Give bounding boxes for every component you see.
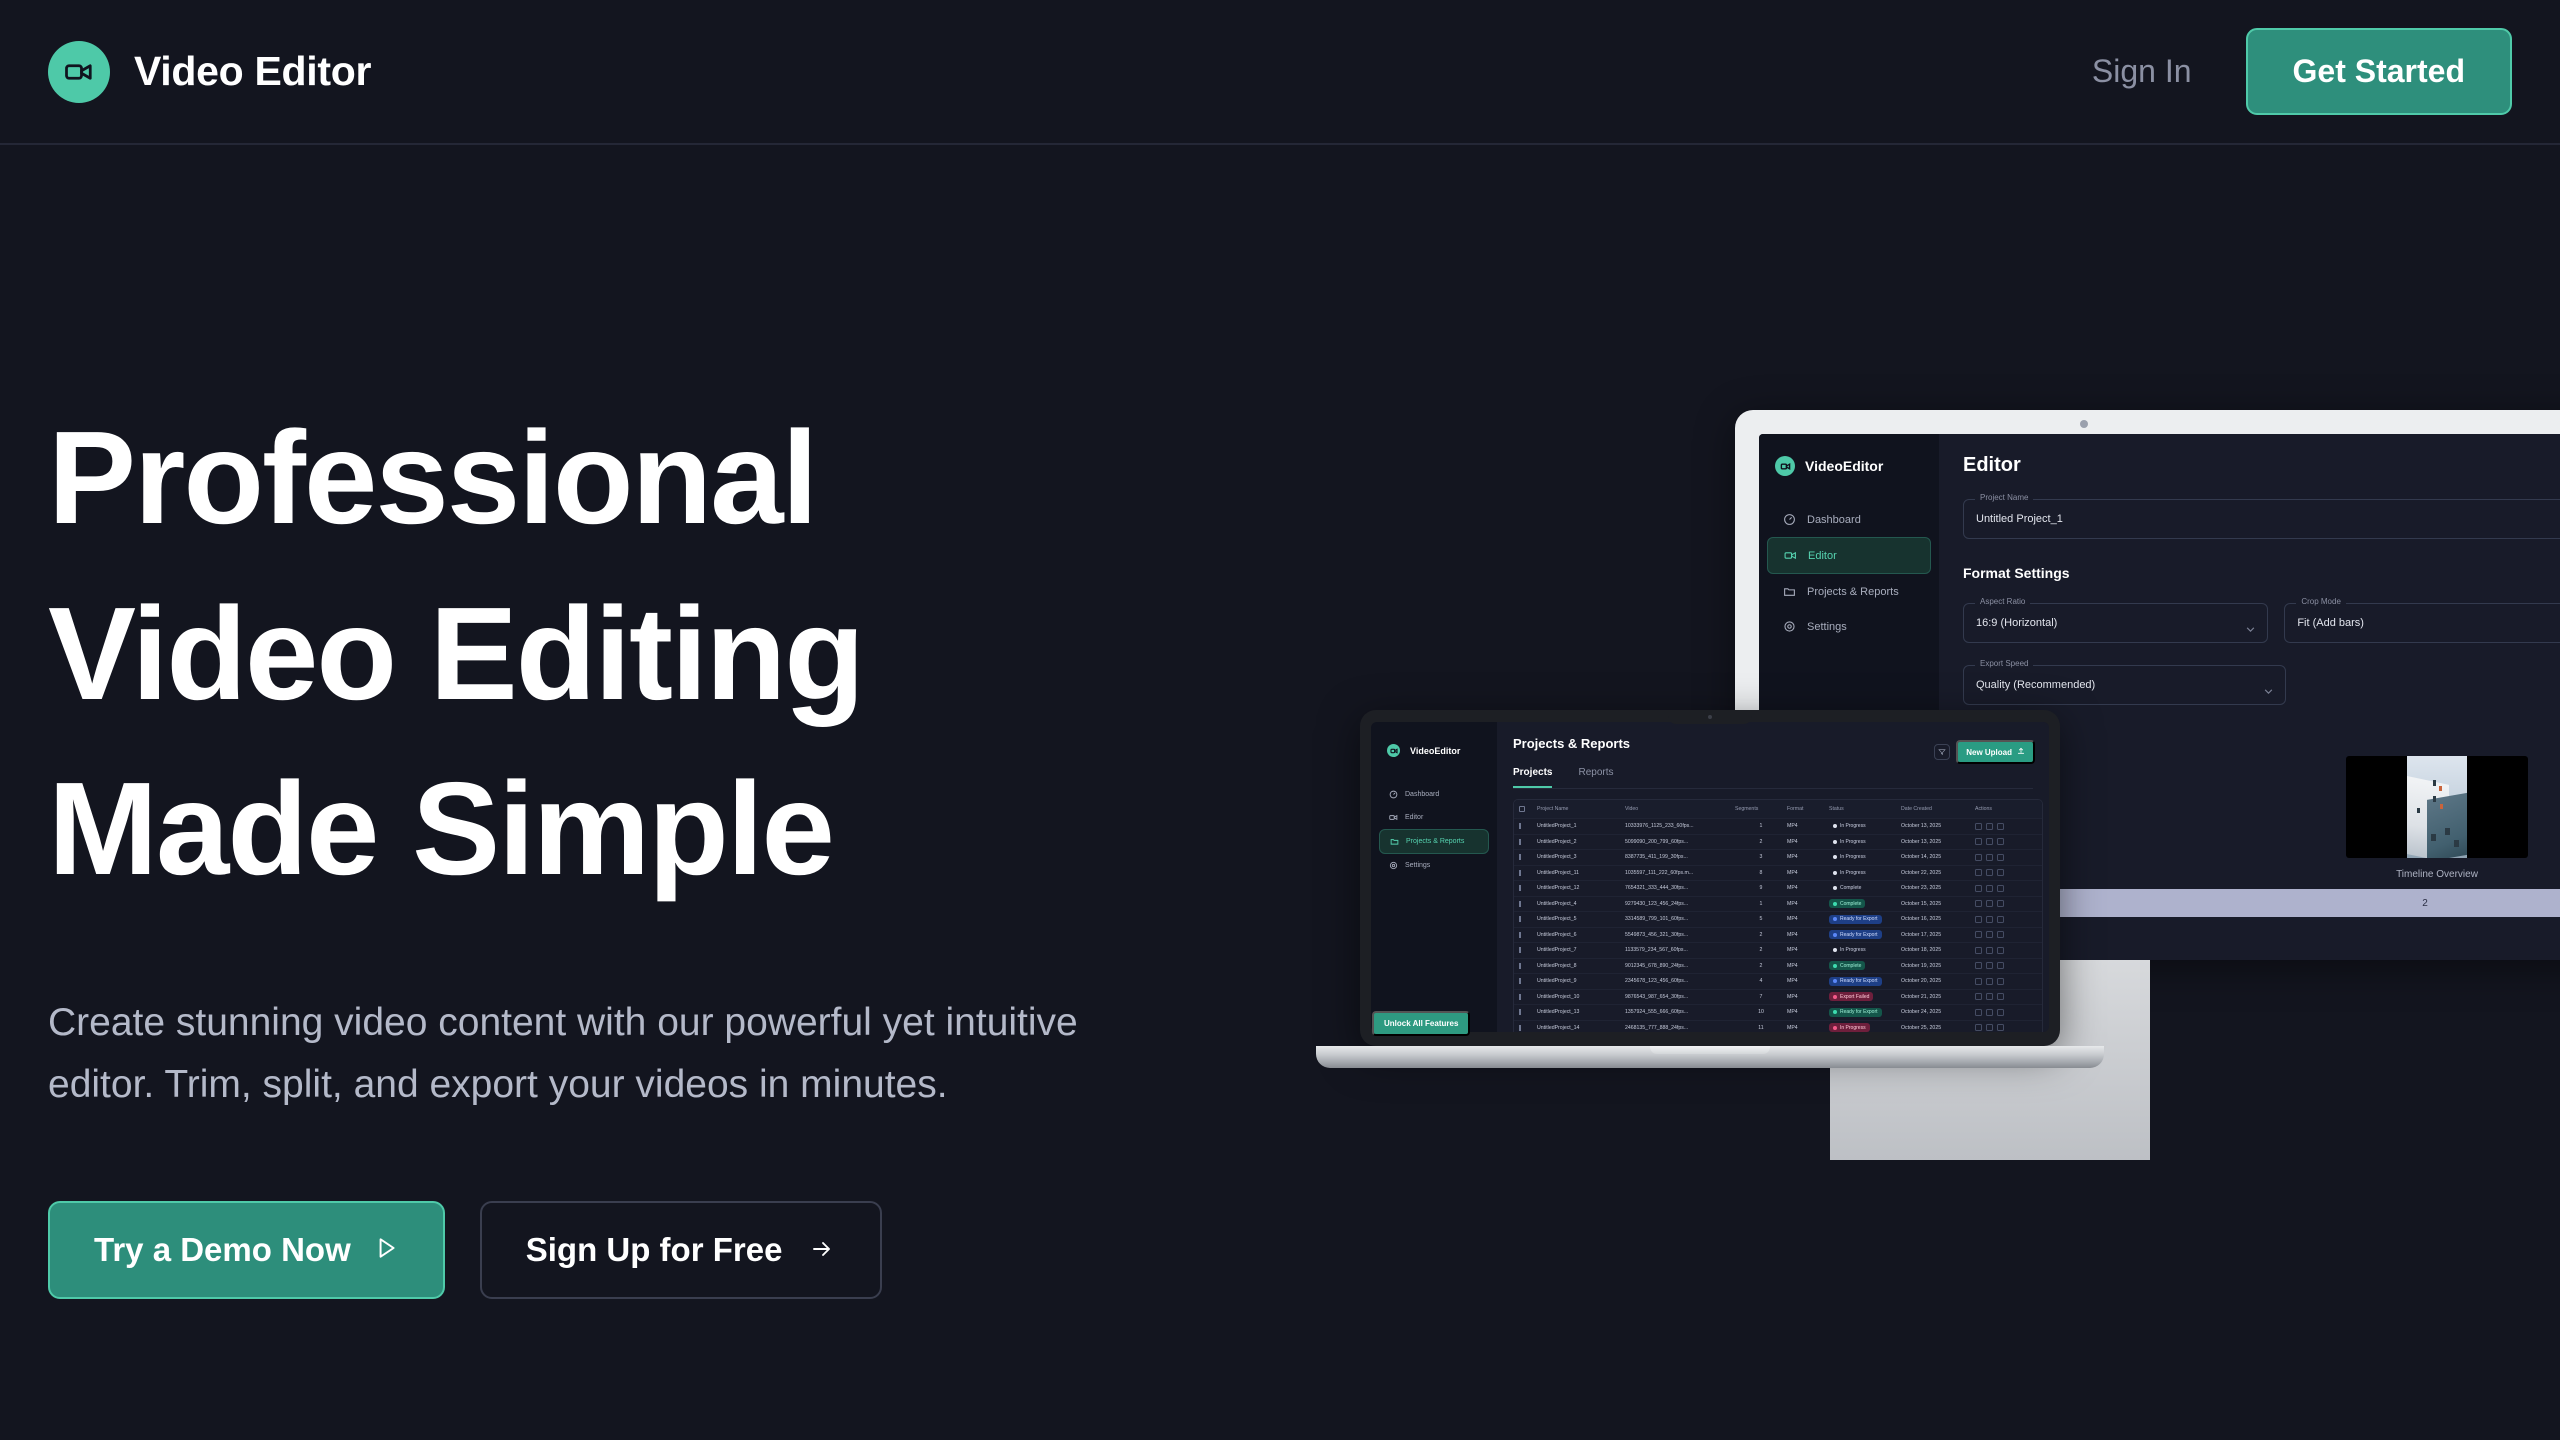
video-camera-icon <box>1387 744 1400 757</box>
video-camera-icon <box>1389 813 1398 822</box>
table-row[interactable]: UntitledProject_110333976_1125_233_60fps… <box>1514 819 2042 835</box>
gauge-icon <box>1389 790 1398 799</box>
row-checkbox[interactable] <box>1519 978 1537 984</box>
edit-icon[interactable] <box>1975 916 1982 923</box>
cell-format: MP4 <box>1787 1025 1829 1031</box>
edit-icon[interactable] <box>1975 947 1982 954</box>
hero-subtitle: Create stunning video content with our p… <box>48 992 1138 1117</box>
cell-video: 9279430_123_456_24fps... <box>1625 901 1735 907</box>
crop-mode-select[interactable]: Crop Mode Fit (Add bars) <box>2284 603 2560 643</box>
cell-format: MP4 <box>1787 916 1829 922</box>
edit-icon[interactable] <box>1975 931 1982 938</box>
cell-format: MP4 <box>1787 978 1829 984</box>
chevron-down-icon <box>2246 619 2255 624</box>
cell-date-created: October 16, 2025 <box>1901 916 1975 922</box>
cell-video: 3314589_799_101_60fps... <box>1625 916 1735 922</box>
sign-up-label: Sign Up for Free <box>526 1231 783 1269</box>
status-badge: Ready for Export <box>1829 930 1901 939</box>
cell-format: MP4 <box>1787 947 1829 953</box>
row-actions[interactable] <box>1975 823 2037 830</box>
sidebar-label: Settings <box>1405 862 1430 869</box>
cell-format: MP4 <box>1787 885 1829 891</box>
tab-reports[interactable]: Reports <box>1578 767 1613 788</box>
status-badge: Ready for Export <box>1829 1008 1901 1017</box>
row-actions[interactable] <box>1975 916 2037 923</box>
aspect-ratio-value: 16:9 (Horizontal) <box>1976 617 2057 629</box>
hero-title-line-1: Professional <box>48 390 1148 566</box>
webcam-icon <box>2080 420 2088 428</box>
hero-title-line-2: Video Editing <box>48 566 1148 742</box>
sidebar-item-settings[interactable]: Settings <box>1767 609 1931 644</box>
get-started-button[interactable]: Get Started <box>2246 28 2512 115</box>
header-actions: Sign In Get Started <box>2092 28 2512 115</box>
laptop-lid: VideoEditor Dashboard Editor Projects & … <box>1360 710 2060 1046</box>
table-row[interactable]: UntitledProject_131357924_555_666_60fps.… <box>1514 1005 2042 1021</box>
format-settings-title: Format Settings <box>1963 565 2560 581</box>
format-settings-row: Aspect Ratio 16:9 (Horizontal) Crop Mode… <box>1963 581 2560 643</box>
edit-icon[interactable] <box>1975 1024 1982 1031</box>
column-status[interactable]: Status <box>1829 806 1901 812</box>
row-checkbox[interactable] <box>1519 1025 1537 1031</box>
sidebar-label: Dashboard <box>1807 514 1861 526</box>
row-actions[interactable] <box>1975 854 2037 861</box>
cell-segments: 7 <box>1735 994 1787 1000</box>
cell-format: MP4 <box>1787 854 1829 860</box>
export-icon[interactable] <box>1986 900 1993 907</box>
laptop-mockup: VideoEditor Dashboard Editor Projects & … <box>1360 710 2060 1068</box>
cell-segments: 10 <box>1735 1009 1787 1015</box>
status-badge: In Progress <box>1829 868 1901 877</box>
column-project-name[interactable]: Project Name <box>1537 806 1625 812</box>
delete-icon[interactable] <box>1997 993 2004 1000</box>
cell-segments: 8 <box>1735 870 1787 876</box>
table-row[interactable]: UntitledProject_25099090_200_799_60fps..… <box>1514 835 2042 851</box>
site-header: Video Editor Sign In Get Started <box>0 0 2560 145</box>
cell-project-name: UntitledProject_10 <box>1537 994 1625 1000</box>
chevron-down-icon <box>2264 681 2273 686</box>
row-checkbox[interactable] <box>1519 839 1537 845</box>
export-icon[interactable] <box>1986 978 1993 985</box>
row-checkbox[interactable] <box>1519 854 1537 860</box>
cell-date-created: October 18, 2025 <box>1901 947 1975 953</box>
status-badge: In Progress <box>1829 853 1901 862</box>
status-badge: In Progress <box>1829 837 1901 846</box>
device-mockups: VideoEditor Dashboard Editor Projects & … <box>1360 390 2560 1190</box>
aspect-ratio-label: Aspect Ratio <box>1975 597 2030 606</box>
status-badge: In Progress <box>1829 1023 1901 1032</box>
delete-icon[interactable] <box>1997 1009 2004 1016</box>
cell-video: 1357924_555_666_60fps... <box>1625 1009 1735 1015</box>
sidebar-label: Editor <box>1405 814 1423 821</box>
row-checkbox[interactable] <box>1519 932 1537 938</box>
row-actions[interactable] <box>1975 838 2037 845</box>
table-row[interactable]: UntitledProject_53314589_799_101_60fps..… <box>1514 912 2042 928</box>
hero-section: Professional Video Editing Made Simple C… <box>48 390 1148 1299</box>
row-actions[interactable] <box>1975 931 2037 938</box>
try-demo-label: Try a Demo Now <box>94 1231 351 1269</box>
row-actions[interactable] <box>1975 993 2037 1000</box>
cell-date-created: October 15, 2025 <box>1901 901 1975 907</box>
delete-icon[interactable] <box>1997 962 2004 969</box>
cell-project-name: UntitledProject_14 <box>1537 1025 1625 1031</box>
row-checkbox[interactable] <box>1519 916 1537 922</box>
play-triangle-icon <box>373 1231 399 1269</box>
export-icon[interactable] <box>1986 838 1993 845</box>
edit-icon[interactable] <box>1975 838 1982 845</box>
editor-app-brand: VideoEditor <box>1759 456 1939 476</box>
row-actions[interactable] <box>1975 1024 2037 1031</box>
delete-icon[interactable] <box>1997 838 2004 845</box>
cell-format: MP4 <box>1787 839 1829 845</box>
delete-icon[interactable] <box>1997 854 2004 861</box>
export-speed-label: Export Speed <box>1975 659 2033 668</box>
column-segments[interactable]: Segments <box>1735 806 1787 812</box>
cell-date-created: October 14, 2025 <box>1901 854 1975 860</box>
cell-video: 5099090_200_799_60fps... <box>1625 839 1735 845</box>
table-row[interactable]: UntitledProject_65549873_456_321_30fps..… <box>1514 928 2042 944</box>
video-player[interactable] <box>2346 756 2528 858</box>
row-actions[interactable] <box>1975 900 2037 907</box>
table-header-row: Project Name Video Segments Format Statu… <box>1514 800 2042 819</box>
cell-format: MP4 <box>1787 1009 1829 1015</box>
row-checkbox[interactable] <box>1519 963 1537 969</box>
status-badge: Complete <box>1829 961 1901 970</box>
cell-date-created: October 19, 2025 <box>1901 963 1975 969</box>
column-date-created[interactable]: Date Created <box>1901 806 1975 812</box>
projects-sidebar: VideoEditor Dashboard Editor Projects & … <box>1371 722 1497 1032</box>
cell-video: 10333976_1125_233_60fps... <box>1625 823 1735 829</box>
brand-name: Video Editor <box>134 48 371 95</box>
cell-project-name: UntitledProject_1 <box>1537 823 1625 829</box>
cell-segments: 11 <box>1735 1025 1787 1031</box>
row-checkbox[interactable] <box>1519 901 1537 907</box>
edit-icon[interactable] <box>1975 993 1982 1000</box>
row-actions[interactable] <box>1975 869 2037 876</box>
status-badge: Ready for Export <box>1829 915 1901 924</box>
cell-video: 5549873_456_321_30fps... <box>1625 932 1735 938</box>
editor-brand-name: VideoEditor <box>1805 458 1883 474</box>
row-checkbox[interactable] <box>1519 870 1537 876</box>
laptop-notch <box>1668 710 1752 724</box>
sign-in-link[interactable]: Sign In <box>2092 53 2192 90</box>
cell-segments: 5 <box>1735 916 1787 922</box>
row-checkbox[interactable] <box>1519 947 1537 953</box>
projects-table: Project Name Video Segments Format Statu… <box>1513 799 2043 1032</box>
cell-video: 2345678_123_456_60fps... <box>1625 978 1735 984</box>
row-actions[interactable] <box>1975 962 2037 969</box>
laptop-screen: VideoEditor Dashboard Editor Projects & … <box>1371 722 2049 1032</box>
projects-tabs: Projects Reports <box>1513 767 2033 789</box>
cell-segments: 2 <box>1735 963 1787 969</box>
video-camera-icon <box>1784 549 1797 562</box>
cell-video: 1035597_111_222_60fps.m... <box>1625 870 1735 876</box>
edit-icon[interactable] <box>1975 962 1982 969</box>
laptop-base <box>1316 1046 2104 1068</box>
crop-mode-label: Crop Mode <box>2296 597 2346 606</box>
cell-segments: 1 <box>1735 901 1787 907</box>
gauge-icon <box>1783 513 1796 526</box>
cell-segments: 3 <box>1735 854 1787 860</box>
sign-up-button[interactable]: Sign Up for Free <box>480 1201 883 1299</box>
column-video[interactable]: Video <box>1625 806 1735 812</box>
cell-project-name: UntitledProject_9 <box>1537 978 1625 984</box>
row-checkbox[interactable] <box>1519 885 1537 891</box>
row-checkbox[interactable] <box>1519 994 1537 1000</box>
page-title: Professional Video Editing Made Simple <box>48 390 1148 917</box>
delete-icon[interactable] <box>1997 931 2004 938</box>
hero-title-line-3: Made Simple <box>48 741 1148 917</box>
export-speed-value: Quality (Recommended) <box>1976 679 2095 691</box>
sidebar-item-editor[interactable]: Editor <box>1767 537 1931 574</box>
cell-date-created: October 23, 2025 <box>1901 885 1975 891</box>
delete-icon[interactable] <box>1997 823 2004 830</box>
cell-project-name: UntitledProject_4 <box>1537 901 1625 907</box>
cell-video: 1133579_234_567_60fps... <box>1625 947 1735 953</box>
row-checkbox[interactable] <box>1519 1009 1537 1015</box>
sidebar-item-projects-reports[interactable]: Projects & Reports <box>1379 829 1489 854</box>
cell-segments: 2 <box>1735 932 1787 938</box>
editor-page-title: Editor <box>1963 454 2560 477</box>
sidebar-label: Projects & Reports <box>1807 586 1899 598</box>
export-icon[interactable] <box>1986 916 1993 923</box>
export-icon[interactable] <box>1986 947 1993 954</box>
projects-toolbar: New Upload <box>1934 740 2035 764</box>
cell-segments: 2 <box>1735 947 1787 953</box>
row-actions[interactable] <box>1975 1009 2037 1016</box>
cell-segments: 9 <box>1735 885 1787 891</box>
new-upload-label: New Upload <box>1966 748 2012 757</box>
table-row[interactable]: UntitledProject_71133579_234_567_60fps..… <box>1514 943 2042 959</box>
edit-icon[interactable] <box>1975 885 1982 892</box>
brand-logo-group[interactable]: Video Editor <box>48 41 371 103</box>
gear-icon <box>1389 861 1398 870</box>
cell-date-created: October 20, 2025 <box>1901 978 1975 984</box>
export-icon[interactable] <box>1986 1024 1993 1031</box>
cell-date-created: October 13, 2025 <box>1901 823 1975 829</box>
cell-date-created: October 21, 2025 <box>1901 994 1975 1000</box>
status-badge: Complete <box>1829 899 1901 908</box>
delete-icon[interactable] <box>1997 900 2004 907</box>
edit-icon[interactable] <box>1975 869 1982 876</box>
cell-video: 2468135_777_888_24fps... <box>1625 1025 1735 1031</box>
sidebar-item-editor[interactable]: Editor <box>1379 806 1489 829</box>
cell-project-name: UntitledProject_2 <box>1537 839 1625 845</box>
edit-icon[interactable] <box>1975 1009 1982 1016</box>
folder-icon <box>1783 585 1796 598</box>
new-upload-button[interactable]: New Upload <box>1956 740 2035 764</box>
projects-brand-name: VideoEditor <box>1410 746 1460 756</box>
delete-icon[interactable] <box>1997 1024 2004 1031</box>
select-all-checkbox[interactable] <box>1519 806 1537 812</box>
export-icon[interactable] <box>1986 869 1993 876</box>
cell-project-name: UntitledProject_5 <box>1537 916 1625 922</box>
row-actions[interactable] <box>1975 978 2037 985</box>
cell-project-name: UntitledProject_13 <box>1537 1009 1625 1015</box>
cell-video: 9876543_987_654_30fps... <box>1625 994 1735 1000</box>
video-camera-icon <box>1775 456 1795 476</box>
try-demo-button[interactable]: Try a Demo Now <box>48 1201 445 1299</box>
column-format[interactable]: Format <box>1787 806 1829 812</box>
table-row[interactable]: UntitledProject_142468135_777_888_24fps.… <box>1514 1021 2042 1033</box>
hero-cta-group: Try a Demo Now Sign Up for Free <box>48 1201 1148 1299</box>
sidebar-item-projects-reports[interactable]: Projects & Reports <box>1767 574 1931 609</box>
cell-video: 9012345_678_890_24fps... <box>1625 963 1735 969</box>
sidebar-item-dashboard[interactable]: Dashboard <box>1379 783 1489 806</box>
cell-date-created: October 25, 2025 <box>1901 1025 1975 1031</box>
row-checkbox[interactable] <box>1519 823 1537 829</box>
status-badge: Export Failed <box>1829 992 1901 1001</box>
aspect-ratio-select[interactable]: Aspect Ratio 16:9 (Horizontal) <box>1963 603 2268 643</box>
column-actions: Actions <box>1975 806 2037 812</box>
table-row[interactable]: UntitledProject_38387735_411_199_30fps..… <box>1514 850 2042 866</box>
cell-segments: 1 <box>1735 823 1787 829</box>
tab-projects[interactable]: Projects <box>1513 767 1552 788</box>
projects-main-panel: Projects & Reports New Upload Projects R… <box>1497 722 2049 1032</box>
export-icon[interactable] <box>1986 823 1993 830</box>
edit-icon[interactable] <box>1975 978 1982 985</box>
table-row[interactable]: UntitledProject_111035597_111_222_60fps.… <box>1514 866 2042 882</box>
sidebar-label: Settings <box>1807 621 1847 633</box>
table-row[interactable]: UntitledProject_89012345_678_890_24fps..… <box>1514 959 2042 975</box>
sidebar-label: Editor <box>1808 550 1837 562</box>
video-thumbnail-building <box>2407 756 2467 858</box>
table-body: UntitledProject_110333976_1125_233_60fps… <box>1514 819 2042 1032</box>
projects-app-brand: VideoEditor <box>1371 744 1497 757</box>
status-badge: In Progress <box>1829 822 1901 831</box>
cell-project-name: UntitledProject_7 <box>1537 947 1625 953</box>
export-icon[interactable] <box>1986 962 1993 969</box>
cell-date-created: October 22, 2025 <box>1901 870 1975 876</box>
arrow-right-icon <box>808 1231 836 1269</box>
gear-icon <box>1783 620 1796 633</box>
cell-video: 7654321_333_444_30fps... <box>1625 885 1735 891</box>
delete-icon[interactable] <box>1997 947 2004 954</box>
cell-video: 8387735_411_199_30fps... <box>1625 854 1735 860</box>
project-name-value: Untitled Project_1 <box>1976 513 2063 525</box>
unlock-all-features-button[interactable]: Unlock All Features <box>1372 1011 1470 1032</box>
export-icon[interactable] <box>1986 854 1993 861</box>
row-actions[interactable] <box>1975 885 2037 892</box>
status-badge: In Progress <box>1829 946 1901 955</box>
export-icon[interactable] <box>1986 931 1993 938</box>
cell-date-created: October 17, 2025 <box>1901 932 1975 938</box>
cell-format: MP4 <box>1787 823 1829 829</box>
sidebar-item-settings[interactable]: Settings <box>1379 854 1489 877</box>
cell-project-name: UntitledProject_3 <box>1537 854 1625 860</box>
delete-icon[interactable] <box>1997 978 2004 985</box>
table-row[interactable]: UntitledProject_92345678_123_456_60fps..… <box>1514 974 2042 990</box>
row-actions[interactable] <box>1975 947 2037 954</box>
export-icon[interactable] <box>1986 1009 1993 1016</box>
delete-icon[interactable] <box>1997 869 2004 876</box>
status-badge: Complete <box>1829 884 1901 893</box>
cell-project-name: UntitledProject_12 <box>1537 885 1625 891</box>
project-name-field[interactable]: Project Name Untitled Project_1 <box>1963 499 2560 539</box>
cell-format: MP4 <box>1787 901 1829 907</box>
folder-icon <box>1390 837 1399 846</box>
delete-icon[interactable] <box>1997 916 2004 923</box>
cell-date-created: October 24, 2025 <box>1901 1009 1975 1015</box>
export-icon[interactable] <box>1986 885 1993 892</box>
sidebar-item-dashboard[interactable]: Dashboard <box>1767 502 1931 537</box>
delete-icon[interactable] <box>1997 885 2004 892</box>
cell-segments: 2 <box>1735 839 1787 845</box>
edit-icon[interactable] <box>1975 823 1982 830</box>
cell-project-name: UntitledProject_6 <box>1537 932 1625 938</box>
table-row[interactable]: UntitledProject_109876543_987_654_30fps.… <box>1514 990 2042 1006</box>
filter-funnel-icon[interactable] <box>1934 744 1950 760</box>
crop-mode-value: Fit (Add bars) <box>2297 617 2364 629</box>
video-camera-icon <box>48 41 110 103</box>
cell-date-created: October 13, 2025 <box>1901 839 1975 845</box>
project-name-label: Project Name <box>1975 493 2033 502</box>
status-badge: Ready for Export <box>1829 977 1901 986</box>
cell-format: MP4 <box>1787 963 1829 969</box>
upload-icon <box>2017 747 2025 757</box>
cell-project-name: UntitledProject_8 <box>1537 963 1625 969</box>
export-speed-select[interactable]: Export Speed Quality (Recommended) <box>1963 665 2286 705</box>
export-speed-row: Export Speed Quality (Recommended) <box>1963 643 2560 705</box>
sidebar-label: Projects & Reports <box>1406 838 1464 845</box>
cell-format: MP4 <box>1787 870 1829 876</box>
cell-project-name: UntitledProject_11 <box>1537 870 1625 876</box>
table-row[interactable]: UntitledProject_49279430_123_456_24fps..… <box>1514 897 2042 913</box>
export-icon[interactable] <box>1986 993 1993 1000</box>
cell-format: MP4 <box>1787 932 1829 938</box>
table-row[interactable]: UntitledProject_127654321_333_444_30fps.… <box>1514 881 2042 897</box>
sidebar-label: Dashboard <box>1405 791 1439 798</box>
cell-format: MP4 <box>1787 994 1829 1000</box>
edit-icon[interactable] <box>1975 900 1982 907</box>
cell-segments: 4 <box>1735 978 1787 984</box>
edit-icon[interactable] <box>1975 854 1982 861</box>
